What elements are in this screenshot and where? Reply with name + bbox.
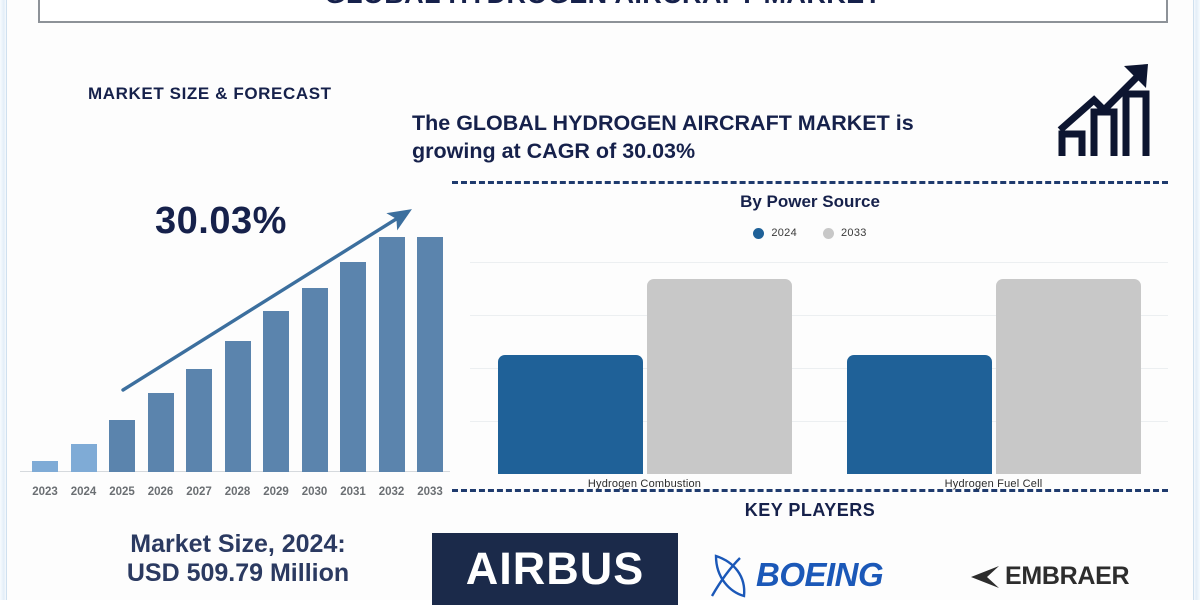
key-players-title: KEY PLAYERS: [452, 500, 1168, 521]
power-source-legend: 20242033: [452, 227, 1168, 239]
page-title: GLOBAL HYDROGEN AIRCRAFT MARKET: [325, 0, 882, 10]
power-source-bar: [996, 279, 1141, 474]
forecast-bar: [302, 288, 328, 472]
forecast-bar: [71, 444, 97, 472]
cagr-statement-line1: The GLOBAL HYDROGEN AIRCRAFT MARKET is: [412, 110, 1052, 138]
legend-item: 2033: [823, 227, 867, 239]
forecast-bar-label: 2031: [333, 486, 373, 498]
airbus-logo-text: AIRBUS: [466, 543, 645, 595]
key-players-logos: AIRBUS BOEING EMBRAER: [420, 530, 1180, 600]
forecast-bar-label: 2028: [218, 486, 258, 498]
forecast-bar-label: 2027: [179, 486, 219, 498]
market-size-label: Market Size, 2024:: [68, 530, 408, 559]
power-source-category-label: Hydrogen Combustion: [470, 478, 819, 490]
forecast-bar-label: 2024: [64, 486, 104, 498]
boeing-logo-text: BOEING: [756, 556, 883, 594]
cagr-statement-line2: growing at CAGR of 30.03%: [412, 138, 1052, 166]
market-size-value: USD 509.79 Million: [68, 559, 408, 588]
legend-dot-icon: [823, 228, 834, 239]
legend-label: 2024: [771, 227, 797, 239]
market-size-forecast-chart: 2023202420252026202720282029203020312032…: [14, 190, 454, 500]
boeing-logo: BOEING: [710, 552, 883, 598]
forecast-bar: [263, 311, 289, 472]
infographic-root: GLOBAL HYDROGEN AIRCRAFT MARKET MARKET S…: [0, 0, 1200, 600]
right-edge-decoration: [1193, 0, 1200, 600]
power-source-bar: [647, 279, 792, 474]
forecast-bar: [109, 420, 135, 472]
gridline: [470, 262, 1168, 263]
title-box: GLOBAL HYDROGEN AIRCRAFT MARKET: [38, 0, 1168, 23]
growth-chart-arrow-icon: [1052, 56, 1162, 164]
power-source-title: By Power Source: [452, 192, 1168, 212]
forecast-bar: [186, 369, 212, 472]
forecast-bar: [32, 461, 58, 472]
power-source-category-label: Hydrogen Fuel Cell: [819, 478, 1168, 490]
forecast-bar-label: 2026: [141, 486, 181, 498]
embraer-mark-icon: [965, 564, 999, 590]
forecast-bar: [148, 393, 174, 472]
forecast-bar-label: 2025: [102, 486, 142, 498]
power-source-bar: [498, 355, 643, 474]
right-edge-line: [1193, 0, 1194, 600]
forecast-bar-label: 2030: [295, 486, 335, 498]
forecast-bar: [340, 262, 366, 472]
forecast-bar-label: 2033: [410, 486, 450, 498]
market-size-2024: Market Size, 2024: USD 509.79 Million: [68, 530, 408, 588]
boeing-mark-icon: [710, 552, 752, 598]
left-edge-line: [6, 0, 7, 600]
forecast-bar-label: 2023: [25, 486, 65, 498]
forecast-bar: [417, 237, 443, 472]
divider-top: [452, 181, 1168, 184]
legend-dot-icon: [753, 228, 764, 239]
embraer-logo: EMBRAER: [965, 562, 1129, 591]
forecast-bar-label: 2032: [372, 486, 412, 498]
legend-item: 2024: [753, 227, 797, 239]
power-source-bar: [847, 355, 992, 474]
embraer-logo-text: EMBRAER: [1005, 562, 1129, 591]
forecast-bar: [379, 237, 405, 472]
legend-label: 2033: [841, 227, 867, 239]
forecast-bar: [225, 341, 251, 472]
market-size-forecast-label: MARKET SIZE & FORECAST: [88, 84, 332, 104]
forecast-bar-label: 2029: [256, 486, 296, 498]
airbus-logo: AIRBUS: [432, 533, 678, 605]
cagr-statement: The GLOBAL HYDROGEN AIRCRAFT MARKET is g…: [412, 110, 1052, 165]
power-source-chart: [470, 262, 1168, 474]
